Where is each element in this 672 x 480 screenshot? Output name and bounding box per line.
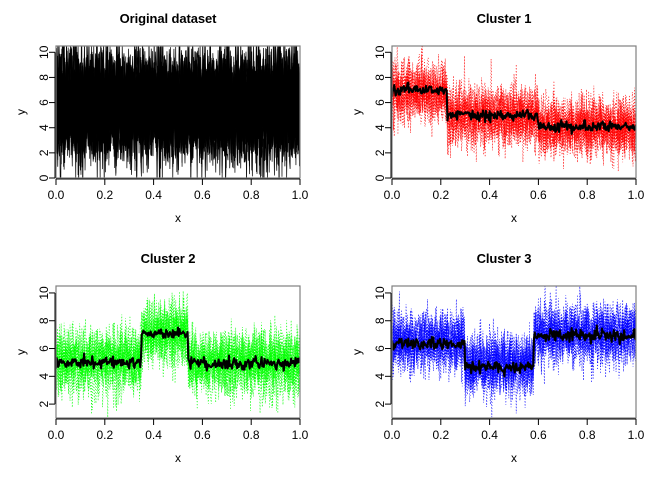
y-tick-label: 2: [373, 149, 387, 156]
y-tick-label: 2: [373, 400, 387, 407]
x-tick-label: 0.4: [145, 428, 162, 442]
x-tick-label: 1.0: [292, 188, 309, 202]
data-layer: [392, 280, 636, 417]
y-tick-label: 2: [37, 149, 51, 156]
y-axis-title: y: [350, 109, 364, 115]
plot-area: 0.00.20.40.60.81.0x246810y: [0, 240, 336, 480]
x-axis-title: x: [175, 451, 181, 465]
x-axis-title: x: [175, 211, 181, 225]
y-tick-label: 8: [37, 317, 51, 324]
y-tick-label: 4: [373, 124, 387, 131]
x-tick-label: 0.4: [145, 188, 162, 202]
x-tick-label: 0.6: [530, 188, 547, 202]
x-tick-label: 1.0: [628, 428, 645, 442]
y-tick-label: 4: [37, 124, 51, 131]
y-axis-title: y: [14, 349, 28, 355]
y-tick-label: 4: [37, 373, 51, 380]
y-tick-label: 10: [373, 45, 387, 59]
panel-cluster-2: Cluster 2 0.00.20.40.60.81.0x246810y: [0, 240, 336, 480]
plot-area: 0.00.20.40.60.81.0x246810y: [336, 240, 672, 480]
cluster-figure: Original dataset 0.00.20.40.60.81.0x0246…: [0, 0, 672, 480]
x-tick-label: 0.8: [579, 188, 596, 202]
x-axis-title: x: [511, 451, 517, 465]
x-tick-label: 1.0: [292, 428, 309, 442]
x-tick-label: 0.2: [432, 428, 449, 442]
y-axis-title: y: [14, 109, 28, 115]
y-tick-label: 2: [37, 400, 51, 407]
x-tick-label: 0.6: [194, 188, 211, 202]
y-tick-label: 10: [37, 286, 51, 300]
y-tick-label: 6: [373, 99, 387, 106]
x-axis-title: x: [511, 211, 517, 225]
x-tick-label: 0.6: [530, 428, 547, 442]
x-tick-label: 0.0: [48, 188, 65, 202]
y-tick-label: 6: [373, 345, 387, 352]
y-tick-label: 0: [37, 174, 51, 181]
x-tick-label: 0.4: [481, 188, 498, 202]
x-tick-label: 0.8: [243, 428, 260, 442]
panel-cluster-1: Cluster 1 0.00.20.40.60.81.0x0246810y: [336, 0, 672, 240]
x-tick-label: 0.4: [481, 428, 498, 442]
x-tick-label: 0.0: [384, 428, 401, 442]
data-layer: [392, 40, 636, 171]
x-tick-label: 0.2: [96, 428, 113, 442]
y-tick-label: 8: [37, 74, 51, 81]
panel-cluster-3: Cluster 3 0.00.20.40.60.81.0x246810y: [336, 240, 672, 480]
x-tick-label: 0.8: [243, 188, 260, 202]
y-tick-label: 0: [373, 174, 387, 181]
y-axis-title: y: [350, 349, 364, 355]
plot-area: 0.00.20.40.60.81.0x0246810y: [336, 0, 672, 240]
x-tick-label: 1.0: [628, 188, 645, 202]
panel-original-dataset: Original dataset 0.00.20.40.60.81.0x0246…: [0, 0, 336, 240]
x-tick-label: 0.2: [96, 188, 113, 202]
x-tick-label: 0.0: [384, 188, 401, 202]
y-tick-label: 6: [37, 99, 51, 106]
x-tick-label: 0.0: [48, 428, 65, 442]
y-tick-label: 8: [373, 74, 387, 81]
y-tick-label: 6: [37, 345, 51, 352]
data-layer: [56, 0, 300, 209]
x-tick-label: 0.6: [194, 428, 211, 442]
y-tick-label: 10: [37, 45, 51, 59]
data-layer: [56, 291, 300, 417]
plot-area: 0.00.20.40.60.81.0x0246810y: [0, 0, 336, 240]
x-tick-label: 0.2: [432, 188, 449, 202]
y-tick-label: 4: [373, 373, 387, 380]
y-tick-label: 10: [373, 286, 387, 300]
y-tick-label: 8: [373, 317, 387, 324]
x-tick-label: 0.8: [579, 428, 596, 442]
